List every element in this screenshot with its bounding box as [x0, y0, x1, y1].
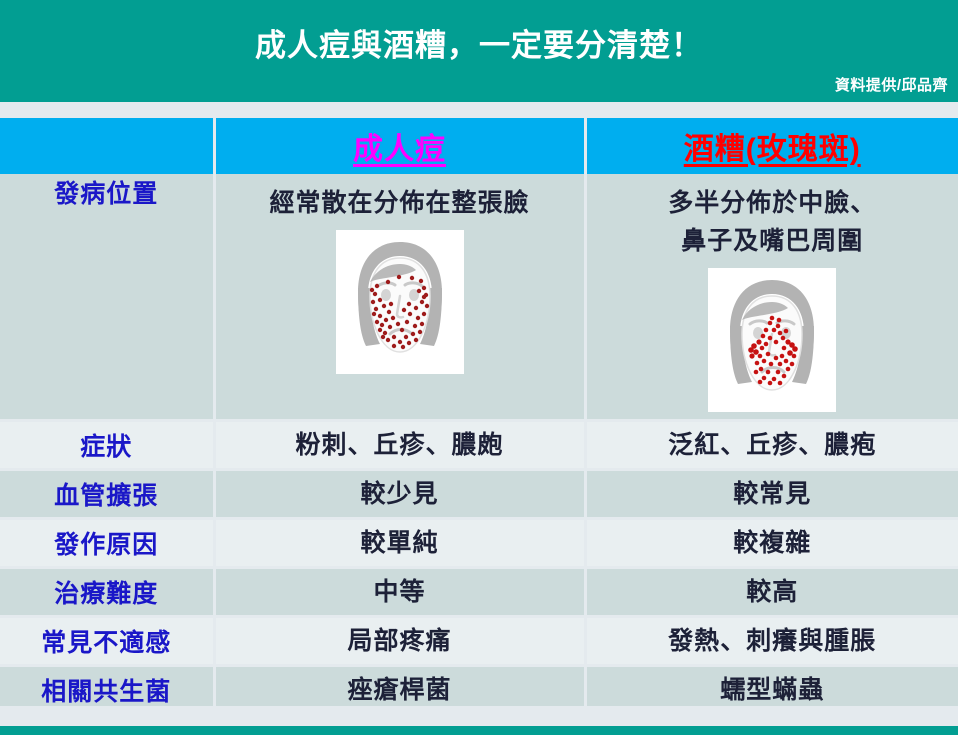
source-credit: 資料提供/邱品齊	[835, 74, 948, 95]
page-title: 成人痘與酒糟，一定要分清楚！	[0, 26, 958, 66]
cell-text: 經常散在分佈在整張臉	[216, 184, 584, 222]
table-row: 症狀 粉刺、丘疹、膿皰 泛紅、丘疹、膿疱	[0, 421, 958, 470]
cell-acne-cause: 較單純	[214, 519, 585, 568]
table-row: 治療難度 中等 較高	[0, 568, 958, 617]
comparison-table: 成人痘 酒糟(玫瑰斑) 發病位置 經常散在分佈在整張臉	[0, 118, 958, 716]
cell-acne-onset-location: 經常散在分佈在整張臉	[214, 174, 585, 421]
footer-bar	[0, 726, 958, 735]
cell-rosacea-vasodilation: 較常見	[585, 470, 958, 519]
cell-acne-symptoms: 粉刺、丘疹、膿皰	[214, 421, 585, 470]
header-banner: 成人痘與酒糟，一定要分清楚！ 資料提供/邱品齊	[0, 0, 958, 102]
header-cell-blank	[0, 118, 214, 174]
table-row: 發病位置 經常散在分佈在整張臉	[0, 174, 958, 421]
cell-rosacea-symptoms: 泛紅、丘疹、膿疱	[585, 421, 958, 470]
face-acne-diagram	[336, 230, 464, 374]
cell-rosacea-cause: 較複雜	[585, 519, 958, 568]
table-header-row: 成人痘 酒糟(玫瑰斑)	[0, 118, 958, 174]
cell-text-line2: 鼻子及嘴巴周圍	[587, 222, 958, 260]
table-row: 發作原因 較單純 較複雜	[0, 519, 958, 568]
row-label-discomfort: 常見不適感	[0, 617, 214, 666]
header-cell-acne: 成人痘	[214, 118, 585, 174]
cell-acne-vasodilation: 較少見	[214, 470, 585, 519]
cell-rosacea-discomfort: 發熱、刺癢與腫脹	[585, 617, 958, 666]
face-rosacea-diagram	[708, 268, 836, 412]
cell-acne-treatment-difficulty: 中等	[214, 568, 585, 617]
cell-rosacea-onset-location: 多半分佈於中臉、 鼻子及嘴巴周圍	[585, 174, 958, 421]
infographic-root: 成人痘與酒糟，一定要分清楚！ 資料提供/邱品齊 成人痘 酒糟(玫瑰斑) 發病位置…	[0, 0, 958, 735]
footer-gap	[0, 706, 958, 726]
row-label-treatment-difficulty: 治療難度	[0, 568, 214, 617]
table-row: 常見不適感 局部疼痛 發熱、刺癢與腫脹	[0, 617, 958, 666]
table-row: 血管擴張 較少見 較常見	[0, 470, 958, 519]
row-label-cause: 發作原因	[0, 519, 214, 568]
row-label-vasodilation: 血管擴張	[0, 470, 214, 519]
row-label-symptoms: 症狀	[0, 421, 214, 470]
cell-rosacea-treatment-difficulty: 較高	[585, 568, 958, 617]
row-label-onset-location: 發病位置	[0, 174, 214, 421]
cell-acne-discomfort: 局部疼痛	[214, 617, 585, 666]
cell-text-line1: 多半分佈於中臉、	[587, 184, 958, 222]
header-cell-rosacea: 酒糟(玫瑰斑)	[585, 118, 958, 174]
